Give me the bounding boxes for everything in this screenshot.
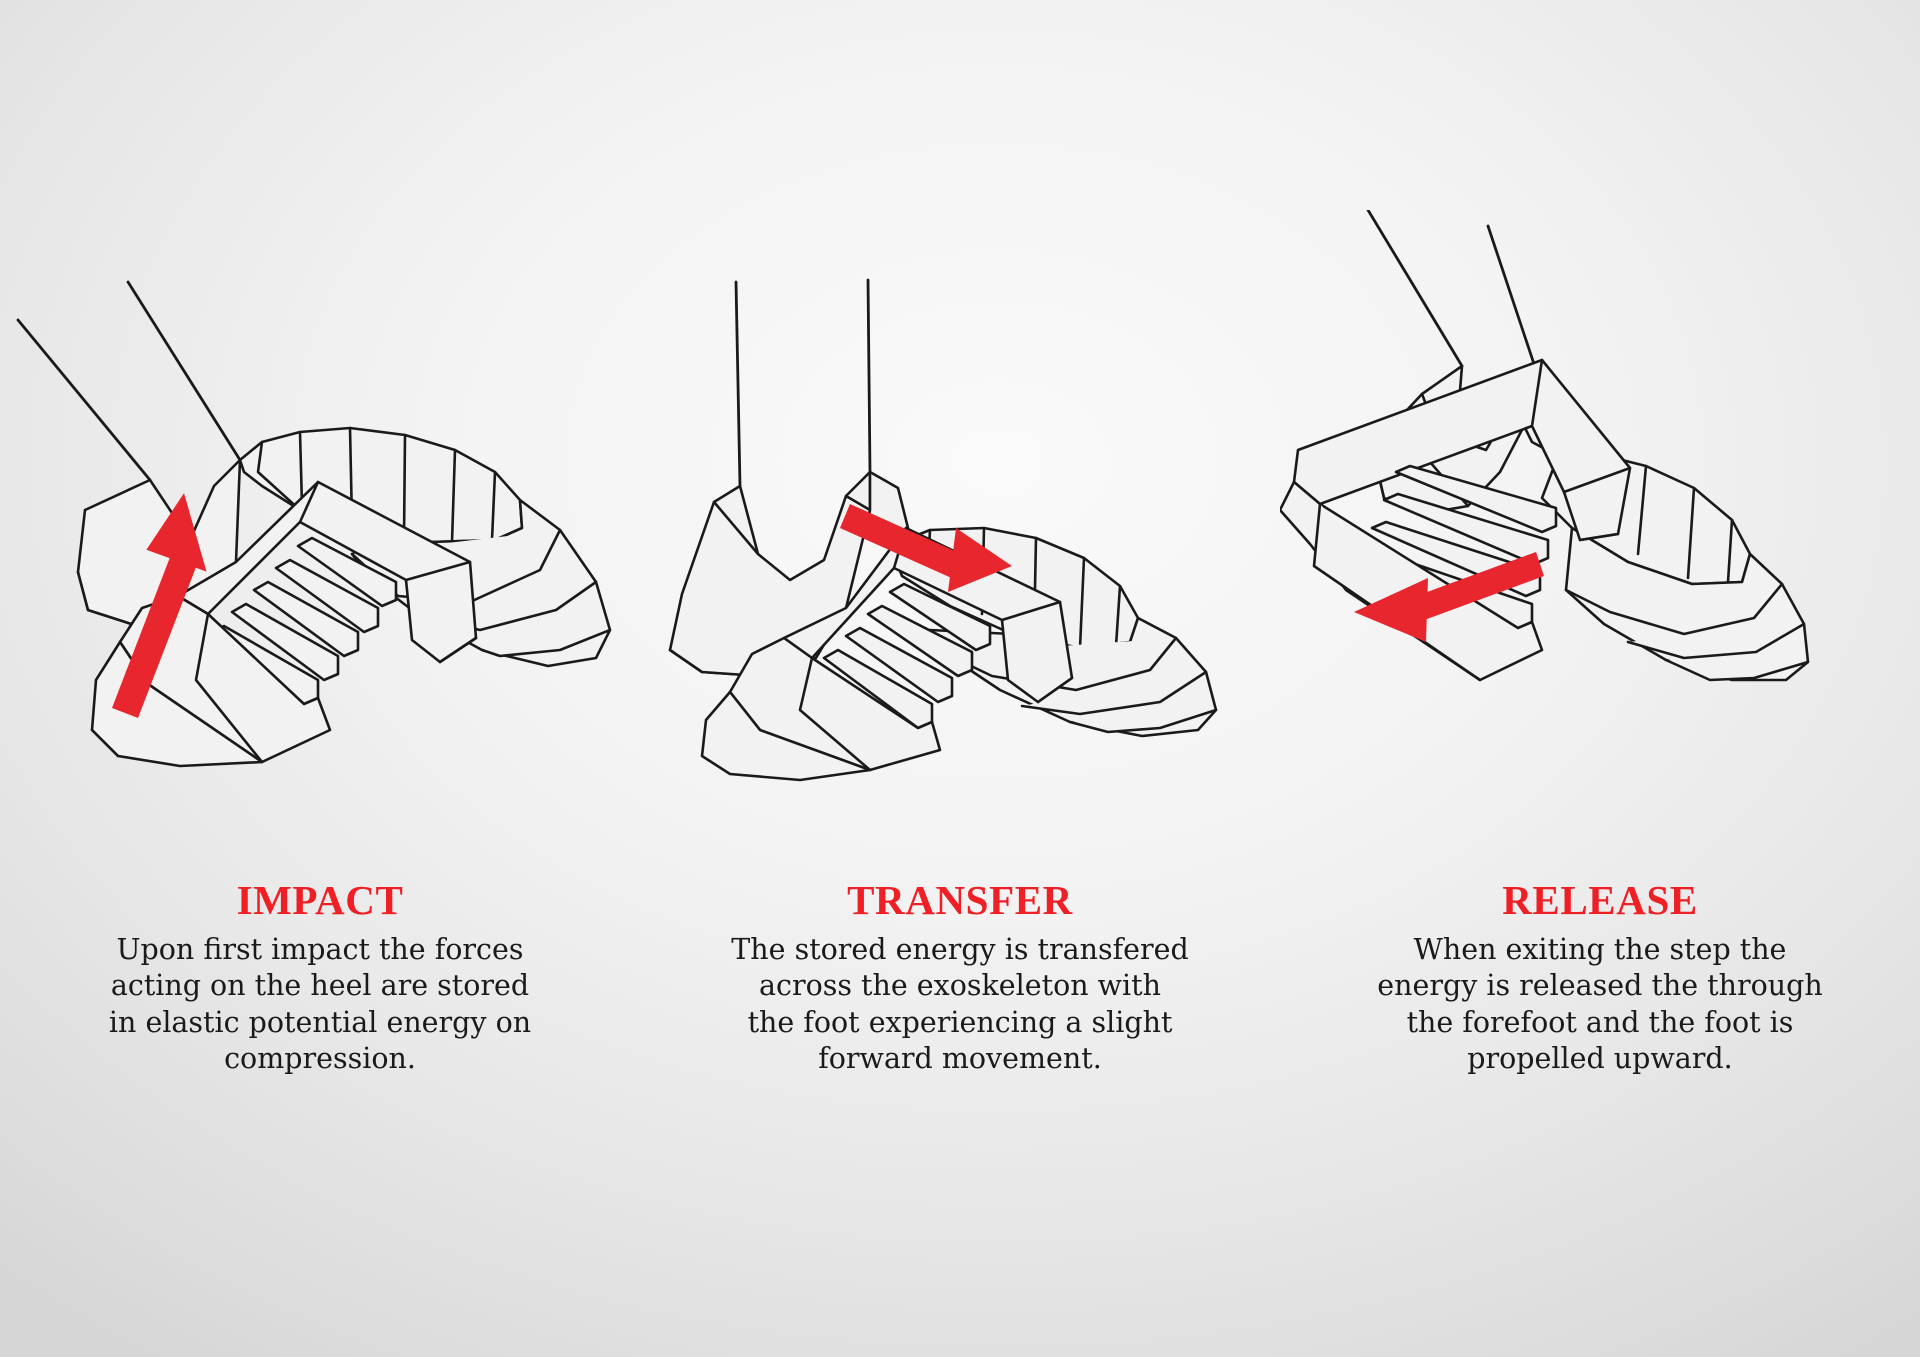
panel-impact: IMPACT Upon first impact the forces acti… [0,0,640,1357]
panel-transfer: TRANSFER The stored energy is transfered… [640,0,1280,1357]
leg-lines-impact [18,282,240,480]
panel-title-impact: IMPACT [40,880,600,921]
panel-body-transfer: The stored energy is transfered across t… [680,932,1240,1078]
panel-title-release: RELEASE [1320,880,1880,921]
leg-lines-transfer [736,280,870,486]
caption-transfer: TRANSFER The stored energy is transfered… [680,880,1240,1078]
leg-lines-release [1368,210,1540,382]
panel-release: RELEASE When exiting the step the energy… [1280,0,1920,1357]
illustration-release [1280,210,1920,830]
infographic-canvas: IMPACT Upon first impact the forces acti… [0,0,1920,1357]
panel-body-release: When exiting the step the energy is rele… [1320,932,1880,1078]
caption-impact: IMPACT Upon first impact the forces acti… [40,880,600,1078]
illustration-impact [0,210,640,830]
panel-title-transfer: TRANSFER [680,880,1240,921]
illustration-transfer [640,210,1280,830]
panel-body-impact: Upon first impact the forces acting on t… [40,932,600,1078]
caption-release: RELEASE When exiting the step the energy… [1320,880,1880,1078]
